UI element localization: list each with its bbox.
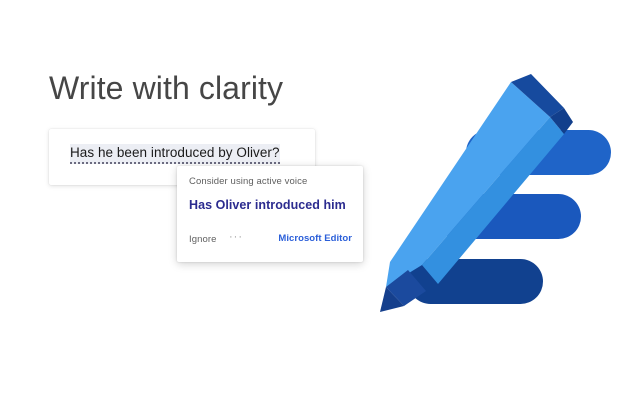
editor-suggestion-card: Consider using active voice Has Oliver i…	[177, 166, 363, 262]
microsoft-editor-logo	[368, 72, 630, 322]
card-footer: Ignore ··· Microsoft Editor	[177, 228, 363, 262]
app-canvas: Write with clarity Has he been introduce…	[0, 0, 640, 400]
page-title: Write with clarity	[49, 69, 283, 107]
flagged-sentence[interactable]: Has he been introduced by Oliver?	[70, 144, 280, 164]
document-sentence: Has he been introduced by Oliver?	[70, 145, 280, 160]
ignore-button[interactable]: Ignore	[189, 234, 217, 245]
suggestion-reason: Consider using active voice	[189, 176, 307, 187]
more-options-icon[interactable]: ···	[229, 231, 243, 243]
suggestion-replacement[interactable]: Has Oliver introduced him	[189, 198, 346, 212]
microsoft-editor-brand-link[interactable]: Microsoft Editor	[278, 233, 352, 244]
